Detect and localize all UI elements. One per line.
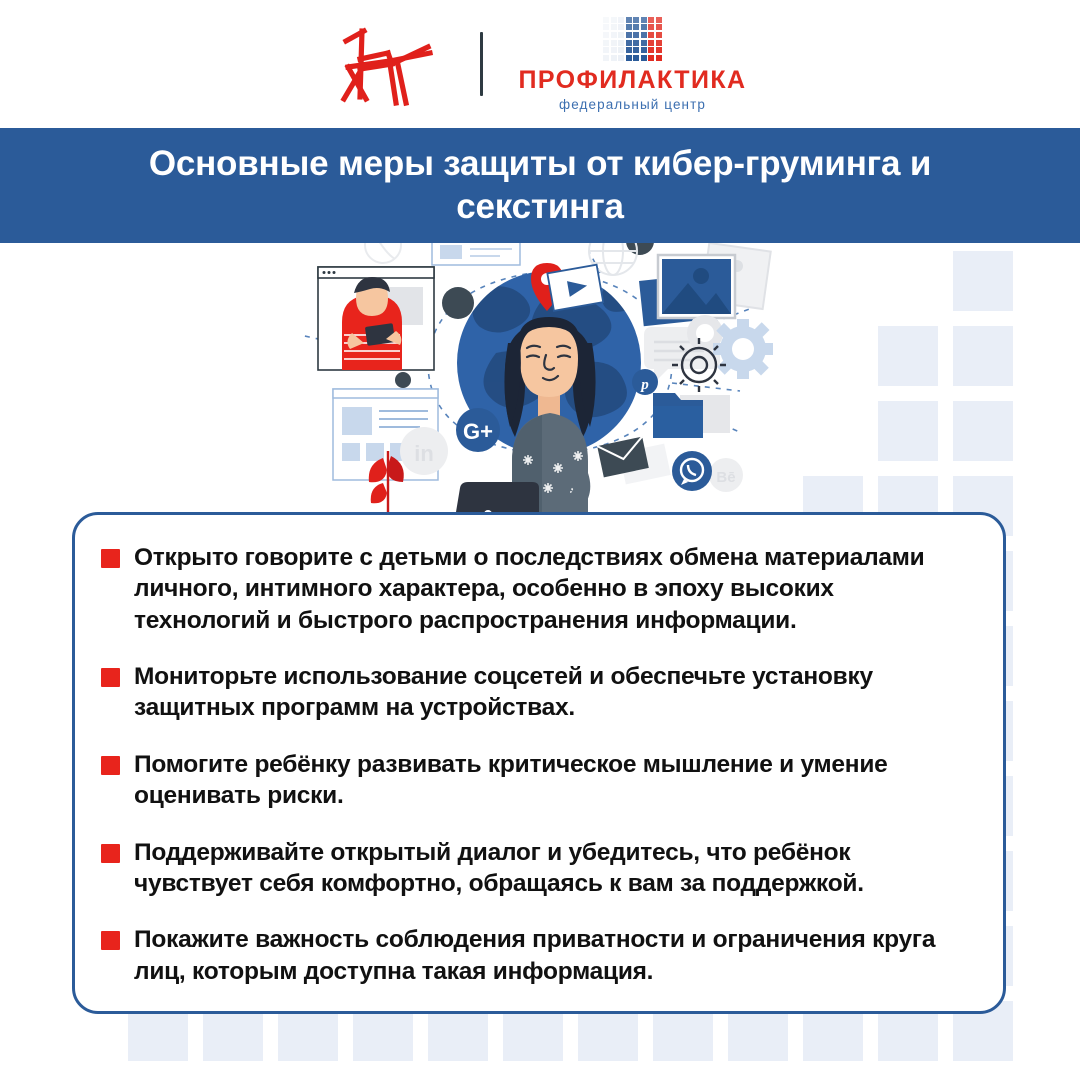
flag-grid-logo — [603, 17, 662, 61]
page-title: Основные меры защиты от кибер-груминга и… — [65, 143, 1015, 228]
brand-name: ПРОФИЛАКТИКА — [519, 68, 747, 93]
bullet-marker-icon — [101, 931, 120, 950]
gear-icons — [672, 315, 773, 392]
flag-grid-cell — [626, 32, 632, 38]
bullet-marker-icon — [101, 844, 120, 863]
dot-decor — [442, 287, 474, 319]
flag-grid-cell — [641, 40, 647, 46]
dot-decor — [626, 243, 654, 255]
flag-grid-cell — [603, 47, 609, 53]
bullet-text: Покажите важность соблюдения приватности… — [134, 924, 969, 987]
whatsapp-badge — [672, 451, 712, 491]
flag-grid-cell — [618, 55, 624, 61]
bullet-text: Помогите ребёнку развивать критическое м… — [134, 749, 969, 812]
flag-grid-cell — [641, 47, 647, 53]
svg-text:Bē: Bē — [716, 469, 735, 486]
bullet-list: Открыто говорите с детьми о последствиях… — [101, 542, 969, 987]
svg-text:G+: G+ — [463, 419, 493, 444]
bullet-text: Поддерживайте открытый диалог и убедитес… — [134, 837, 969, 900]
header-bar: ПРОФИЛАКТИКА федеральный центр — [0, 0, 1080, 128]
bullet-item: Поддерживайте открытый диалог и убедитес… — [101, 837, 969, 900]
flag-grid-cell — [648, 40, 654, 46]
bullet-text: Открыто говорите с детьми о последствиях… — [134, 542, 969, 636]
recommendations-card: Открыто говорите с детьми о последствиях… — [72, 512, 1006, 1014]
flag-grid-cell — [633, 47, 639, 53]
flag-grid-cell — [656, 24, 662, 30]
dot-decor — [395, 372, 411, 388]
behance-badge: Bē — [709, 458, 743, 492]
flag-grid-cell — [633, 32, 639, 38]
flag-grid-cell — [611, 32, 617, 38]
svg-text:in: in — [414, 441, 434, 466]
bullet-item: Помогите ребёнку развивать критическое м… — [101, 749, 969, 812]
bullet-text: Мониторьте использование соцсетей и обес… — [134, 661, 969, 724]
social-media-online-safety-illustration: G+ in p Bē — [0, 243, 1080, 543]
flag-grid-cell — [626, 17, 632, 23]
flag-grid-cell — [618, 17, 624, 23]
svg-text:p: p — [639, 377, 649, 393]
red-chair-line-logo — [334, 19, 446, 109]
flag-grid-cell — [633, 40, 639, 46]
flag-grid-cell — [618, 40, 624, 46]
flag-grid-cell — [611, 17, 617, 23]
flag-grid-cell — [656, 17, 662, 23]
bullet-item: Открыто говорите с детьми о последствиях… — [101, 542, 969, 636]
flag-grid-cell — [603, 40, 609, 46]
flag-grid-cell — [626, 55, 632, 61]
logo-divider — [480, 32, 483, 96]
brand-block: ПРОФИЛАКТИКА федеральный центр — [519, 17, 747, 111]
flag-grid-cell — [603, 24, 609, 30]
flag-grid-cell — [656, 32, 662, 38]
flag-grid-cell — [641, 17, 647, 23]
flag-grid-cell — [611, 55, 617, 61]
bullet-item: Мониторьте использование соцсетей и обес… — [101, 661, 969, 724]
brand-subtitle: федеральный центр — [559, 98, 706, 112]
flag-grid-cell — [648, 17, 654, 23]
bullet-item: Покажите важность соблюдения приватности… — [101, 924, 969, 987]
bullet-marker-icon — [101, 756, 120, 775]
video-call-window — [318, 267, 434, 370]
bullet-marker-icon — [101, 668, 120, 687]
flag-grid-cell — [641, 55, 647, 61]
title-banner: Основные меры защиты от кибер-груминга и… — [0, 128, 1080, 243]
flag-grid-cell — [626, 40, 632, 46]
infographic-poster: ПРОФИЛАКТИКА федеральный центр Основные … — [0, 0, 1080, 1080]
flag-grid-cell — [618, 24, 624, 30]
flag-grid-cell — [656, 47, 662, 53]
flag-grid-cell — [648, 47, 654, 53]
flag-grid-cell — [648, 24, 654, 30]
flag-grid-cell — [633, 24, 639, 30]
flag-grid-cell — [656, 40, 662, 46]
flag-grid-cell — [626, 47, 632, 53]
flag-grid-cell — [648, 32, 654, 38]
flag-grid-cell — [633, 17, 639, 23]
flag-grid-cell — [641, 32, 647, 38]
flag-grid-cell — [633, 55, 639, 61]
play-video-icon — [547, 265, 603, 311]
flag-grid-cell — [641, 24, 647, 30]
google-plus-badge: G+ — [456, 408, 500, 452]
folder-icon — [653, 393, 730, 438]
flag-grid-cell — [626, 24, 632, 30]
linkedin-badge: in — [400, 427, 448, 475]
flag-grid-cell — [603, 32, 609, 38]
logo-row: ПРОФИЛАКТИКА федеральный центр — [0, 0, 1080, 128]
flag-grid-cell — [618, 32, 624, 38]
flag-grid-cell — [603, 17, 609, 23]
flag-grid-cell — [611, 40, 617, 46]
flag-grid-cell — [603, 55, 609, 61]
photo-stack-icon — [638, 243, 771, 328]
flag-grid-cell — [611, 24, 617, 30]
flag-grid-cell — [618, 47, 624, 53]
bullet-marker-icon — [101, 549, 120, 568]
flag-grid-cell — [648, 55, 654, 61]
flag-grid-cell — [656, 55, 662, 61]
flag-grid-cell — [611, 47, 617, 53]
pinterest-badge: p — [632, 369, 658, 395]
